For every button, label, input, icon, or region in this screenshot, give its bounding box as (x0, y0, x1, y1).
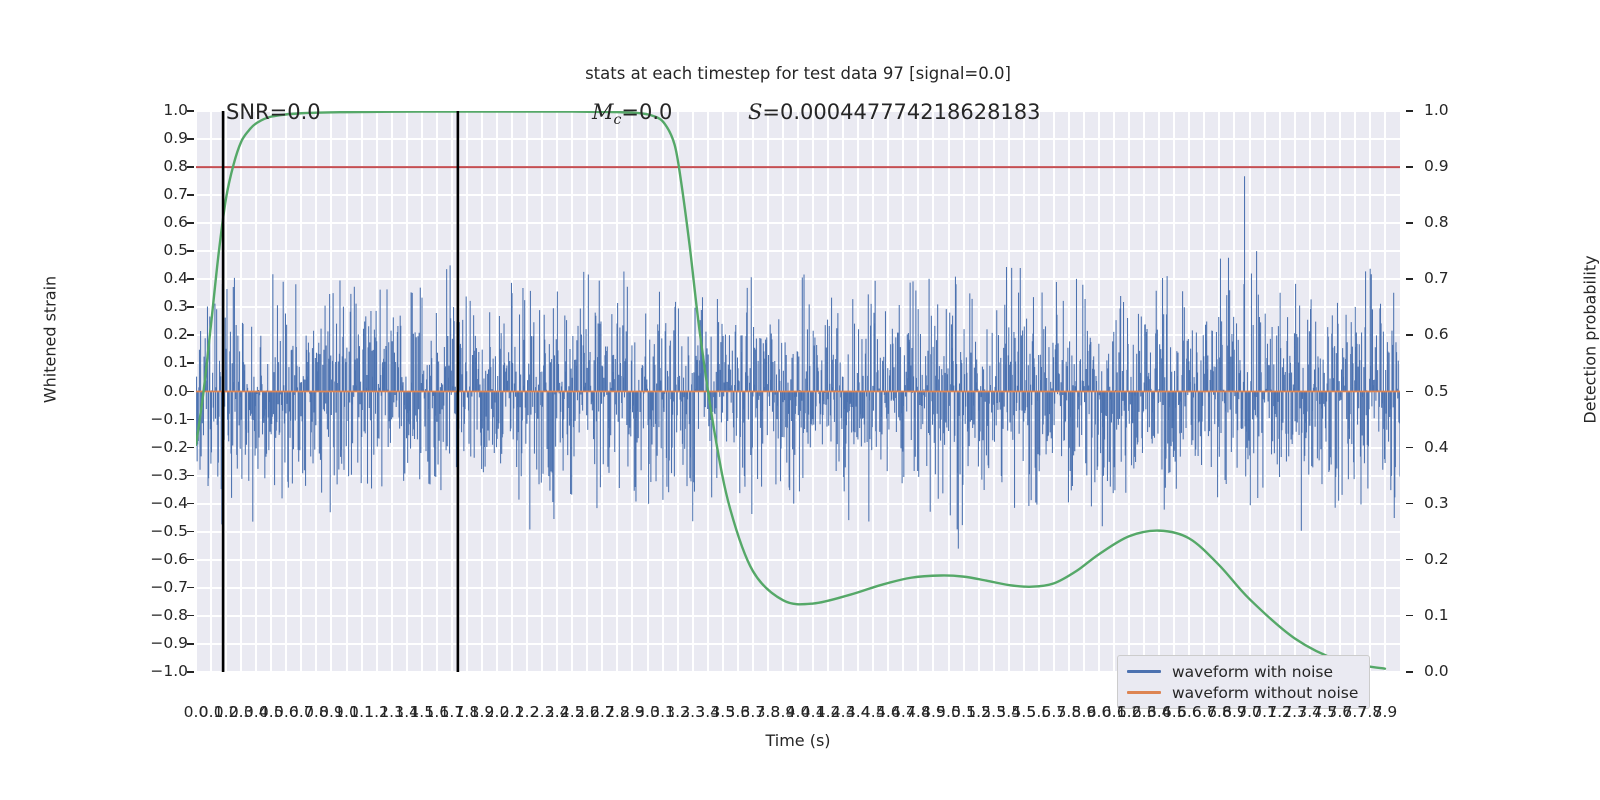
y-tick-mark-left (187, 559, 194, 561)
y-tick-label-left: −0.4 (150, 494, 188, 512)
y-tick-mark-left (187, 587, 194, 589)
page-title: stats at each timestep for test data 97 … (196, 64, 1400, 83)
y-tick-mark-left (187, 362, 194, 364)
plot-area (196, 111, 1400, 672)
annotation-snr: SNR=0.0 (226, 100, 321, 124)
y-tick-label-left: −0.5 (150, 522, 188, 540)
annotation-score: S=0.000447774218628183 (748, 100, 1041, 124)
x-axis-label: Time (s) (196, 731, 1400, 750)
legend-entry-waveform-with-noise: waveform with noise (1127, 661, 1358, 682)
y-tick-label-right: 0.5 (1424, 382, 1449, 400)
y-tick-label-right: 0.0 (1424, 662, 1449, 680)
y-tick-label-right: 0.6 (1424, 325, 1449, 343)
y-tick-label-left: −1.0 (150, 662, 188, 680)
y-tick-mark-left (187, 306, 194, 308)
y-tick-label-left: 0.4 (163, 269, 188, 287)
y-tick-mark-right (1406, 222, 1413, 224)
y-tick-mark-left (187, 419, 194, 421)
annotation-chirp-mass-symbol: M (592, 100, 614, 124)
y-tick-mark-right (1406, 166, 1413, 168)
y-tick-mark-right (1406, 615, 1413, 617)
y-tick-label-left: −0.9 (150, 634, 188, 652)
y-tick-mark-right (1406, 671, 1413, 673)
y-tick-label-left: 0.6 (163, 213, 188, 231)
y-tick-label-left: 1.0 (163, 101, 188, 119)
y-tick-label-left: 0.3 (163, 297, 188, 315)
y-tick-mark-right (1406, 559, 1413, 561)
y-tick-mark-left (187, 447, 194, 449)
y-tick-mark-left (187, 194, 194, 196)
y-tick-label-left: 0.1 (163, 353, 188, 371)
y-tick-label-right: 0.1 (1424, 606, 1449, 624)
annotation-score-symbol: S (748, 100, 762, 124)
y-tick-label-left: −0.2 (150, 438, 188, 456)
y-tick-mark-left (187, 671, 194, 673)
y-tick-label-right: 0.4 (1424, 438, 1449, 456)
annotation-chirp-mass-value: =0.0 (621, 100, 672, 124)
y-tick-label-right: 0.7 (1424, 269, 1449, 287)
plot-canvas (196, 111, 1400, 672)
y-axis-label-right: Detection probability (1581, 140, 1600, 540)
y-tick-mark-left (187, 250, 194, 252)
y-tick-mark-left (187, 391, 194, 393)
y-tick-mark-left (187, 531, 194, 533)
y-tick-label-left: 0.9 (163, 129, 188, 147)
y-tick-label-left: 0.8 (163, 157, 188, 175)
legend-label-waveform-with-noise: waveform with noise (1172, 663, 1333, 681)
y-tick-mark-left (187, 643, 194, 645)
y-tick-label-right: 1.0 (1424, 101, 1449, 119)
figure: stats at each timestep for test data 97 … (0, 0, 1600, 800)
y-tick-mark-left (187, 222, 194, 224)
y-axis-label-left: Whitened strain (41, 140, 60, 540)
legend-label-waveform-without-noise: waveform without noise (1172, 684, 1358, 702)
y-tick-label-right: 0.9 (1424, 157, 1449, 175)
waveform-with-noise-trace (196, 176, 1400, 548)
y-tick-label-right: 0.3 (1424, 494, 1449, 512)
y-tick-mark-right (1406, 447, 1413, 449)
legend-entry-waveform-without-noise: waveform without noise (1127, 682, 1358, 703)
y-tick-label-left: 0.0 (163, 382, 188, 400)
y-tick-mark-right (1406, 503, 1413, 505)
y-tick-mark-left (187, 138, 194, 140)
y-tick-label-right: 0.8 (1424, 213, 1449, 231)
y-tick-mark-left (187, 475, 194, 477)
y-tick-mark-left (187, 166, 194, 168)
y-tick-mark-right (1406, 278, 1413, 280)
legend-swatch-waveform-without-noise (1127, 691, 1161, 694)
y-tick-mark-left (187, 278, 194, 280)
y-tick-label-right: 0.2 (1424, 550, 1449, 568)
y-tick-mark-left (187, 110, 194, 112)
y-tick-mark-left (187, 503, 194, 505)
y-tick-label-left: −0.1 (150, 410, 188, 428)
y-tick-label-left: 0.5 (163, 241, 188, 259)
y-tick-label-left: 0.7 (163, 185, 188, 203)
y-tick-label-left: −0.8 (150, 606, 188, 624)
annotation-chirp-mass: Mc=0.0 (592, 100, 672, 128)
y-tick-mark-right (1406, 391, 1413, 393)
y-tick-label-left: −0.7 (150, 578, 188, 596)
y-tick-mark-right (1406, 110, 1413, 112)
y-tick-mark-right (1406, 334, 1413, 336)
x-tick-label: 7.9 (1373, 703, 1398, 721)
legend: waveform with noise waveform without noi… (1117, 655, 1370, 709)
annotation-score-value: =0.000447774218628183 (762, 100, 1040, 124)
y-tick-label-left: −0.3 (150, 466, 188, 484)
y-tick-mark-left (187, 334, 194, 336)
y-tick-mark-left (187, 615, 194, 617)
legend-swatch-waveform-with-noise (1127, 670, 1161, 673)
y-tick-label-left: −0.6 (150, 550, 188, 568)
y-tick-label-left: 0.2 (163, 325, 188, 343)
